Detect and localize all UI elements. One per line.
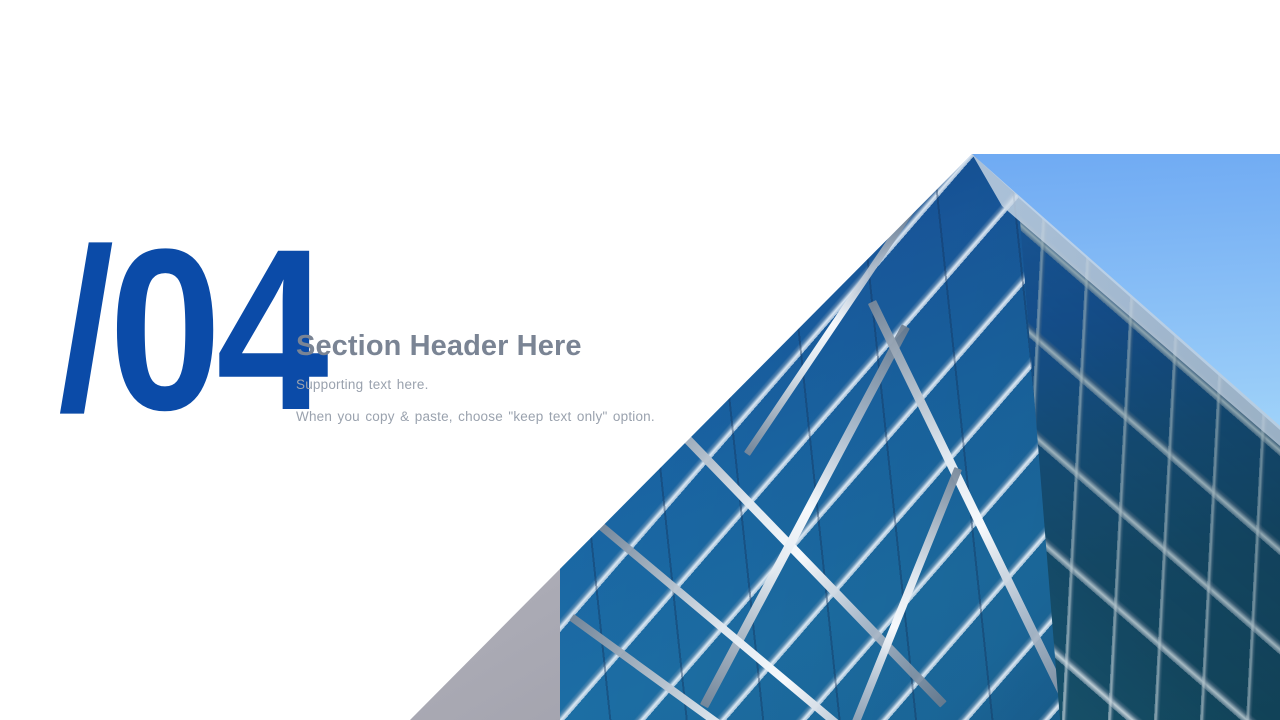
supporting-text-line-2: When you copy & paste, choose "keep text… (296, 407, 956, 427)
page-title: Section Header Here (296, 330, 956, 363)
section-text-block: Section Header Here Supporting text here… (296, 330, 956, 427)
brace-bar (569, 614, 994, 720)
brace-bar (642, 392, 947, 708)
brace-bar (595, 520, 960, 720)
section-number: /04 (58, 236, 288, 436)
supporting-text-line-1: Supporting text here. (296, 375, 956, 395)
brace-bar (831, 467, 962, 720)
section-number-text: /04 (58, 236, 260, 425)
slide-canvas: /04 Section Header Here Supporting text … (0, 0, 1280, 720)
